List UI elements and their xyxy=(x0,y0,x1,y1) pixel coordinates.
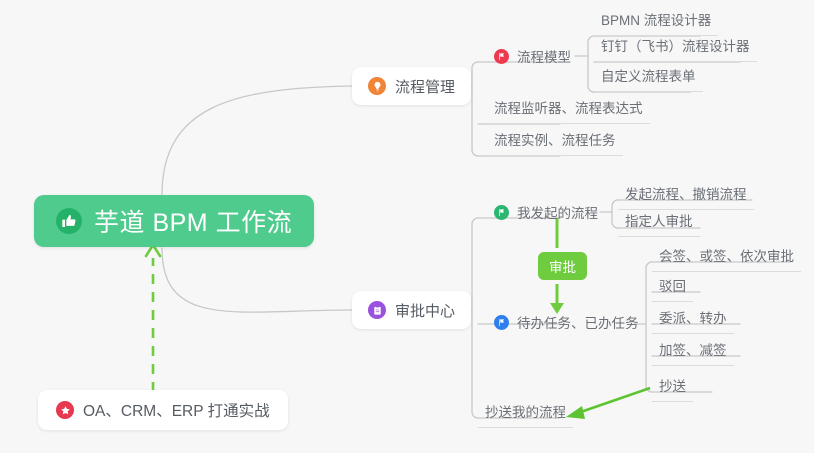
footnote-node[interactable]: OA、CRM、ERP 打通实战 xyxy=(38,390,288,430)
lightbulb-icon xyxy=(368,77,386,95)
underline xyxy=(487,155,623,156)
mindmap-canvas: 芋道 BPM 工作流 OA、CRM、ERP 打通实战 流程管理 流程模型 xyxy=(0,0,814,453)
label-process-instance-task: 流程实例、流程任务 xyxy=(487,130,623,155)
underline xyxy=(652,401,693,402)
underline xyxy=(618,236,700,237)
node-designated-approver[interactable]: 指定人审批 xyxy=(618,211,700,237)
underline xyxy=(652,333,734,334)
star-icon xyxy=(56,401,74,419)
flag-red-icon xyxy=(494,49,509,64)
label-add-remove-sign: 加签、减签 xyxy=(652,340,734,365)
branch-label-approval-center: 审批中心 xyxy=(395,300,455,321)
underline xyxy=(652,271,801,272)
label-process-listener-expression: 流程监听器、流程表达式 xyxy=(487,98,650,123)
footnote-flow-arrow xyxy=(146,245,160,392)
root-node[interactable]: 芋道 BPM 工作流 xyxy=(34,195,314,247)
label-my-initiated-process: 我发起的流程 xyxy=(517,202,598,222)
branch-label-process-management: 流程管理 xyxy=(395,76,455,97)
underline xyxy=(478,427,573,428)
label-cc: 抄送 xyxy=(652,376,693,401)
underline xyxy=(652,365,734,366)
branch-node-approval-center[interactable]: 审批中心 xyxy=(352,291,471,329)
node-dingtalk-feishu-designer[interactable]: 钉钉（飞书）流程设计器 xyxy=(594,36,757,62)
node-start-cancel-process[interactable]: 发起流程、撤销流程 xyxy=(618,184,754,210)
node-bpmn-designer[interactable]: BPMN 流程设计器 xyxy=(594,10,718,36)
node-countersign-or-sequential[interactable]: 会签、或签、依次审批 xyxy=(652,246,801,272)
underline xyxy=(652,301,693,302)
underline xyxy=(594,91,703,92)
label-start-cancel-process: 发起流程、撤销流程 xyxy=(618,184,754,209)
label-process-model: 流程模型 xyxy=(517,46,571,66)
node-cc-to-me-process[interactable]: 抄送我的流程 xyxy=(478,402,573,428)
underline xyxy=(594,61,757,62)
flag-blue-icon xyxy=(494,315,509,330)
node-my-initiated-process[interactable]: 我发起的流程 xyxy=(494,202,598,222)
label-reject: 驳回 xyxy=(652,276,693,301)
wire-pm-spine xyxy=(472,62,478,156)
underline xyxy=(618,209,754,210)
node-process-listener-expression[interactable]: 流程监听器、流程表达式 xyxy=(487,98,650,124)
underline xyxy=(487,123,650,124)
label-custom-process-form: 自定义流程表单 xyxy=(594,66,703,91)
node-custom-process-form[interactable]: 自定义流程表单 xyxy=(594,66,703,92)
node-todo-done-tasks[interactable]: 待办任务、已办任务 xyxy=(494,312,639,332)
node-cc[interactable]: 抄送 xyxy=(652,376,693,402)
root-label: 芋道 BPM 工作流 xyxy=(94,203,292,239)
node-process-model[interactable]: 流程模型 xyxy=(494,46,571,66)
flag-green-icon xyxy=(494,205,509,220)
label-designated-approver: 指定人审批 xyxy=(618,211,700,236)
label-dingtalk-feishu-designer: 钉钉（飞书）流程设计器 xyxy=(594,36,757,61)
wire-root-to-approval-center xyxy=(162,248,352,312)
wire-root-to-process-management xyxy=(162,86,352,195)
label-bpmn-designer: BPMN 流程设计器 xyxy=(594,10,718,35)
label-cc-to-me-process: 抄送我的流程 xyxy=(478,402,573,427)
label-delegate-transfer: 委派、转办 xyxy=(652,308,734,333)
wire-ac-spine xyxy=(472,218,478,418)
clipboard-icon xyxy=(368,301,386,319)
thumbs-up-icon xyxy=(56,208,82,234)
approval-badge[interactable]: 审批 xyxy=(538,252,587,280)
footnote-label: OA、CRM、ERP 打通实战 xyxy=(83,399,270,421)
node-add-remove-sign[interactable]: 加签、减签 xyxy=(652,340,734,366)
cc-flow-arrow xyxy=(566,388,650,419)
label-countersign-or-sequential: 会签、或签、依次审批 xyxy=(652,246,801,271)
node-reject[interactable]: 驳回 xyxy=(652,276,693,302)
node-process-instance-task[interactable]: 流程实例、流程任务 xyxy=(487,130,623,156)
node-delegate-transfer[interactable]: 委派、转办 xyxy=(652,308,734,334)
label-todo-done-tasks: 待办任务、已办任务 xyxy=(517,312,639,332)
approval-badge-label: 审批 xyxy=(549,256,576,276)
branch-node-process-management[interactable]: 流程管理 xyxy=(352,67,471,105)
